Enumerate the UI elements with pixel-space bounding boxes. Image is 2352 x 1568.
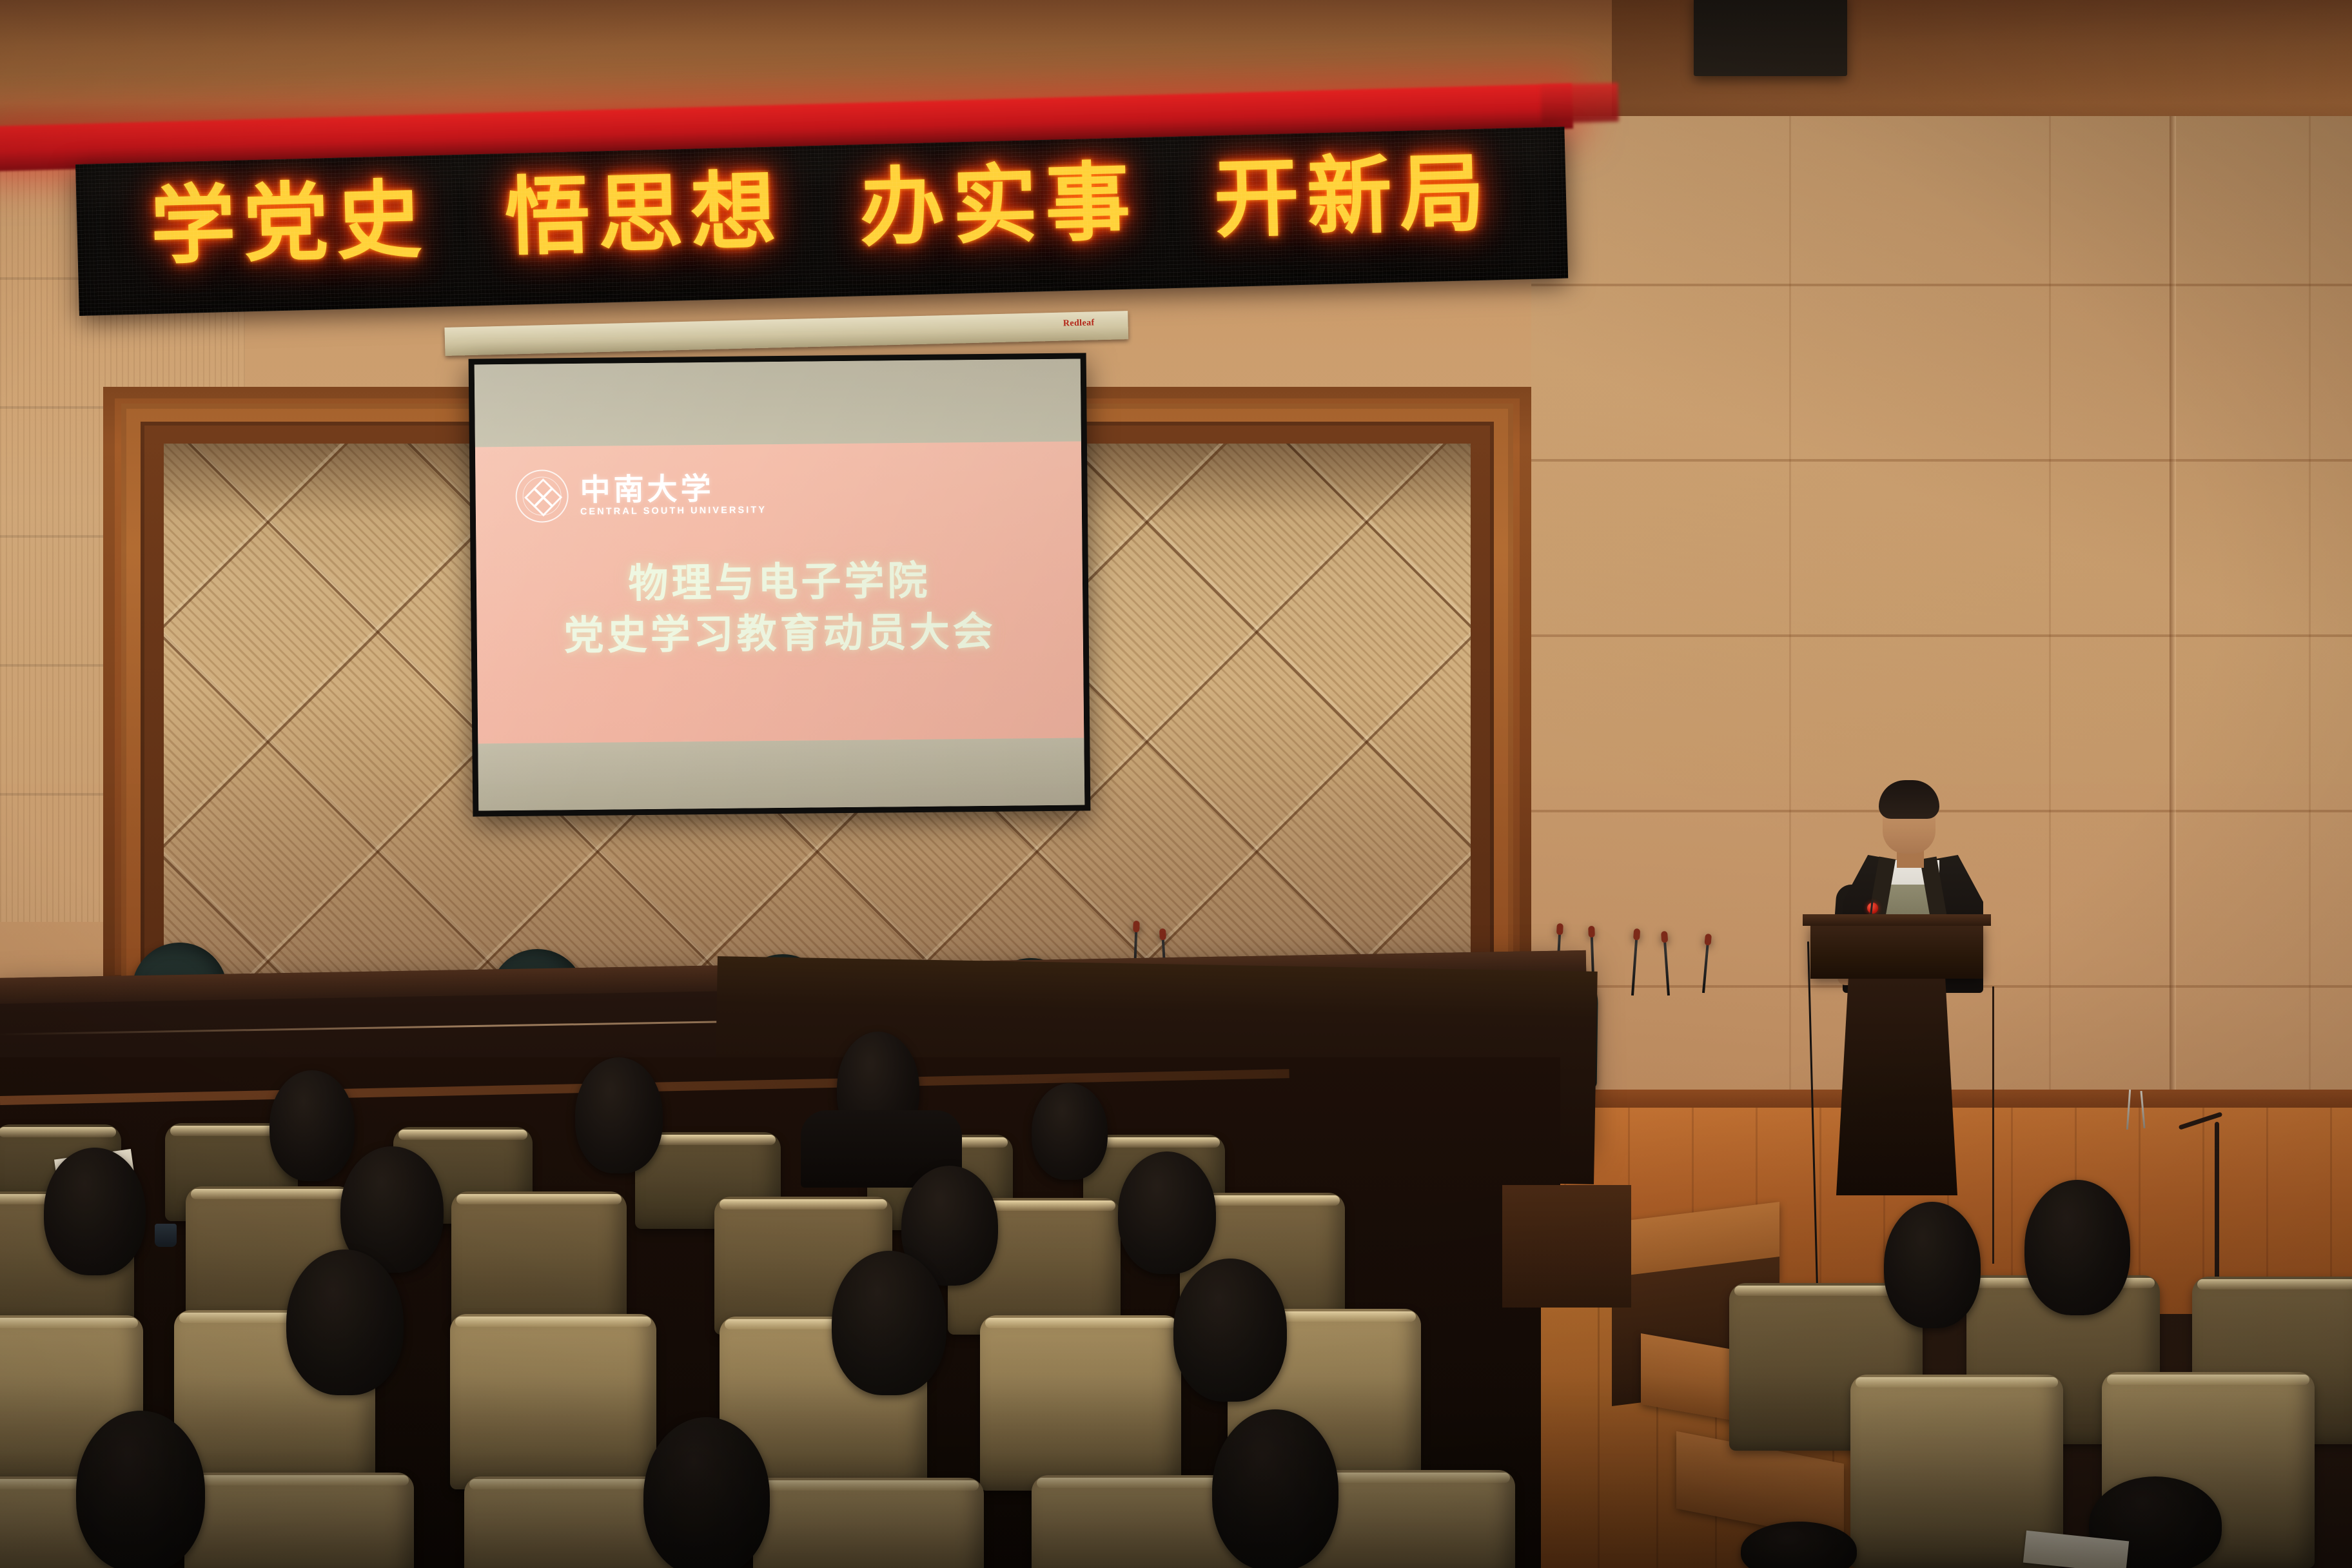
led-phrase-2: 悟思想 bbox=[504, 168, 785, 260]
audience-head bbox=[44, 1148, 146, 1275]
power-cable bbox=[1992, 986, 1994, 1264]
audience-head bbox=[269, 1070, 355, 1181]
audience-seat bbox=[450, 1314, 656, 1489]
audience-head bbox=[1212, 1409, 1338, 1568]
audience-head bbox=[76, 1411, 205, 1568]
screen-inactive-top bbox=[475, 359, 1081, 447]
audience-seat bbox=[451, 1191, 627, 1328]
drink-cup bbox=[155, 1224, 177, 1247]
university-logo: 中南大学 CENTRAL SOUTH UNIVERSITY bbox=[515, 467, 767, 523]
led-banner-text: 学党史 悟思想 办实事 开新局 bbox=[76, 149, 1567, 271]
audience-head bbox=[643, 1417, 770, 1568]
led-phrase-3: 办实事 bbox=[858, 159, 1139, 251]
speaker-podium bbox=[1810, 923, 1983, 979]
university-name-cn: 中南大学 bbox=[580, 473, 767, 505]
led-phrase-1: 学党史 bbox=[150, 177, 430, 269]
audience-head bbox=[1173, 1259, 1287, 1402]
wall-corner-edge bbox=[2170, 116, 2176, 1109]
audience-head bbox=[1884, 1202, 1981, 1328]
podium-body bbox=[1836, 979, 1957, 1195]
slide-title-block: 物理与电子学院 党史学习教育动员大会 bbox=[476, 558, 1083, 658]
podium-top-ledge bbox=[1803, 914, 1991, 926]
auditorium-photo: 学党史 悟思想 办实事 开新局 Redleaf bbox=[0, 0, 2352, 1568]
led-phrase-4: 开新局 bbox=[1213, 150, 1493, 242]
screen-inactive-bottom bbox=[478, 738, 1084, 810]
audience-head bbox=[286, 1249, 404, 1395]
audience-seat bbox=[753, 1478, 984, 1568]
projection-screen: 中南大学 CENTRAL SOUTH UNIVERSITY 物理与电子学院 党史… bbox=[469, 353, 1091, 816]
audience-head bbox=[1032, 1083, 1108, 1180]
projection-screen-surface: 中南大学 CENTRAL SOUTH UNIVERSITY 物理与电子学院 党史… bbox=[475, 359, 1085, 811]
slide-title-line-1: 物理与电子学院 bbox=[628, 560, 931, 605]
red-light-strip-end bbox=[1540, 83, 1619, 123]
slide-title-line-2: 党史学习教育动员大会 bbox=[563, 611, 996, 657]
csu-seal-icon bbox=[515, 469, 569, 523]
university-name-en: CENTRAL SOUTH UNIVERSITY bbox=[580, 505, 767, 517]
audience-head bbox=[1118, 1151, 1216, 1274]
audience-head bbox=[575, 1057, 663, 1173]
audience-seat bbox=[184, 1473, 414, 1568]
audience-head bbox=[2024, 1180, 2130, 1315]
audience-head bbox=[832, 1251, 946, 1395]
mic-stand-pole bbox=[2215, 1122, 2219, 1283]
ceiling-speaker-icon bbox=[1694, 0, 1847, 76]
audience-seat bbox=[980, 1315, 1181, 1491]
roller-brand-label: Redleaf bbox=[1063, 318, 1095, 329]
side-desk-shadow bbox=[1502, 1185, 1631, 1308]
speaker-hair bbox=[1879, 780, 1939, 819]
presentation-slide: 中南大学 CENTRAL SOUTH UNIVERSITY 物理与电子学院 党史… bbox=[475, 441, 1084, 743]
